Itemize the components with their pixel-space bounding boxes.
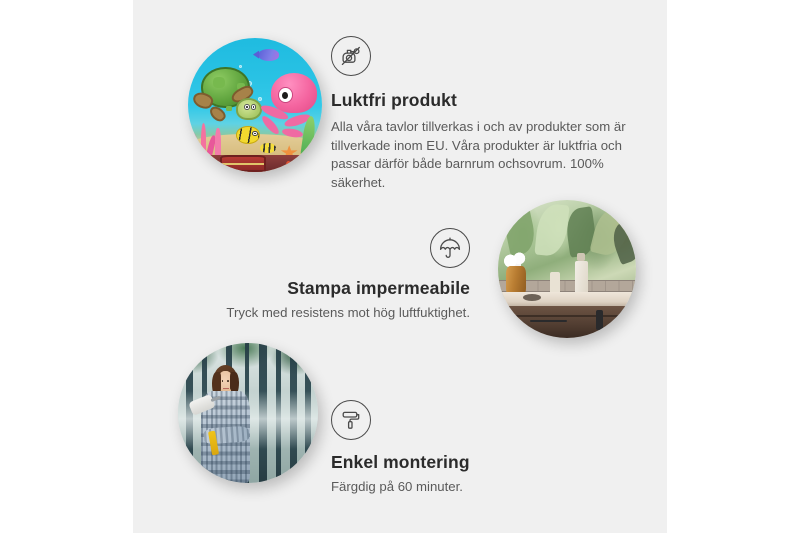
feature-description: Alla våra tavlor tillverkas i och av pro… [331, 118, 631, 192]
no-perfume-icon [331, 36, 371, 76]
leaf-shape [534, 203, 570, 258]
feature-title: Enkel montering [331, 452, 611, 473]
feature-block-luktfri: Luktfri produkt Alla våra tavlor tillver… [331, 36, 631, 192]
countertop [498, 292, 636, 306]
drawer-handle [530, 320, 567, 322]
treasure-chest [220, 155, 266, 172]
bubble-icon [258, 97, 262, 101]
fish-yellow [236, 126, 260, 143]
photo-underwater-scene [188, 38, 322, 172]
octopus-head [271, 73, 317, 113]
octopus-eye [278, 87, 293, 103]
feature-description: Tryck med resistens mot hög luftfuktighe… [190, 304, 470, 323]
crab-icon [290, 159, 309, 171]
door-handle [596, 310, 603, 330]
vanity-cabinet [498, 306, 636, 338]
photo-tropical-bathroom [498, 200, 636, 338]
fish-blue [258, 49, 279, 61]
feature-block-impermeabile: Stampa impermeabile Tryck med resistens … [190, 228, 470, 323]
turtle-eye [244, 104, 250, 110]
infographic-stage: Luktfri produkt Alla våra tavlor tillver… [0, 0, 800, 533]
umbrella-icon [430, 228, 470, 268]
feature-block-montering: Enkel montering Färgdig på 60 minuter. [331, 400, 611, 497]
feature-description: Färgdig på 60 minuter. [331, 478, 611, 497]
paint-roller-icon [331, 400, 371, 440]
soap-dispenser [575, 261, 587, 297]
soap-bottle [550, 272, 560, 294]
feature-title: Luktfri produkt [331, 90, 631, 111]
turtle-eye [251, 104, 257, 110]
bubble-icon [239, 65, 242, 68]
woman-figure [195, 365, 273, 483]
soap-dish [523, 294, 541, 301]
feature-title: Stampa impermeabile [190, 278, 470, 299]
photo-forest-installer [178, 343, 318, 483]
turtle-head [236, 98, 261, 119]
fish-eye [252, 131, 257, 136]
